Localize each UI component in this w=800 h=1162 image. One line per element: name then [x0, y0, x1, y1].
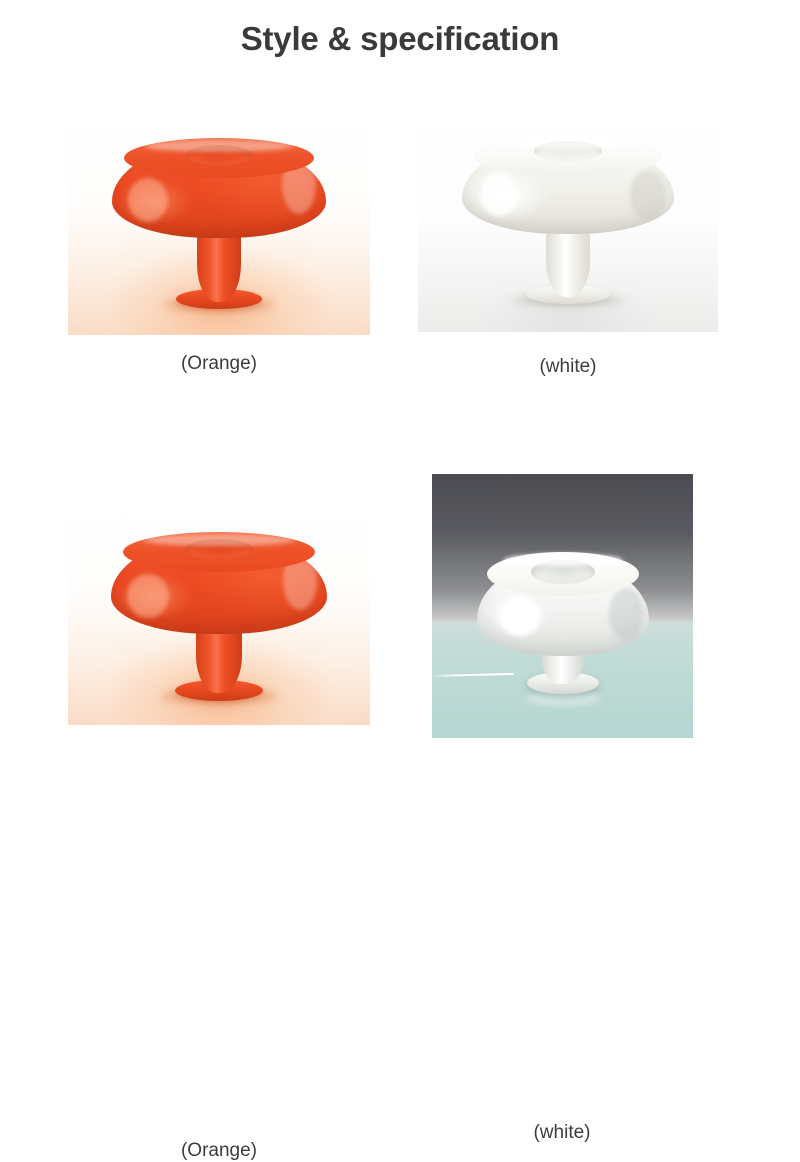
lamp-orange-bottom-photo — [68, 500, 370, 725]
lamp-orange-top-caption: (Orange) — [68, 353, 370, 375]
lamp-shade-highlight — [499, 596, 541, 636]
lamp-top-rim-highlight — [494, 138, 642, 149]
lamp-stem — [546, 229, 590, 297]
lamp-stem — [197, 230, 241, 302]
gallery-item-lamp-white-bottom[interactable]: (white) — [432, 474, 693, 738]
gallery-item-lamp-white-top[interactable]: (white) — [418, 110, 718, 332]
lamp-top-rim-highlight — [144, 140, 294, 152]
page-title: Style & specification — [0, 20, 800, 58]
lamp-white-top-photo — [418, 110, 718, 332]
lamp-shade-highlight — [480, 172, 518, 216]
lamp-shade-shadow-right — [609, 588, 643, 640]
lamp-white-bottom-caption: (white) — [392, 1122, 732, 1144]
lamp-top-rim-highlight — [143, 534, 295, 546]
lamp-shade-highlight — [128, 178, 168, 222]
product-style-specification-page: Style & specification — [0, 0, 800, 800]
lamp-orange-top-photo — [68, 110, 370, 335]
lamp-shade-shadow-right — [630, 170, 666, 220]
lamp-orange-bottom-caption: (Orange) — [68, 1140, 370, 1162]
lamp-top-rim-highlight — [503, 554, 623, 566]
lamp-white-bottom-photo — [432, 474, 693, 738]
power-cord — [432, 673, 514, 677]
gallery-item-lamp-orange-bottom[interactable]: (Orange) — [68, 500, 370, 725]
lamp-shade-highlight — [127, 574, 169, 618]
gallery-item-lamp-orange-top[interactable]: (Orange) — [68, 110, 370, 335]
lamp-white-top-caption: (white) — [418, 356, 718, 378]
